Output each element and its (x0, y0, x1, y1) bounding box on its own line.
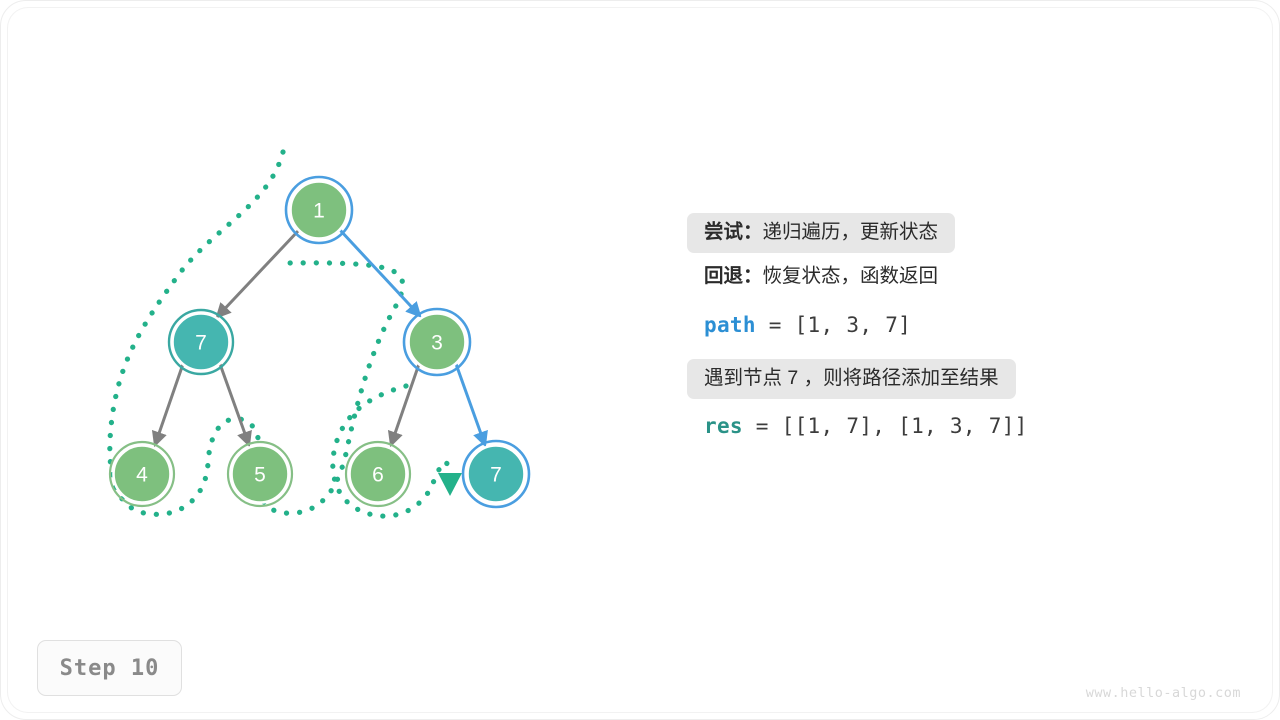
tree-node-1-label: 1 (313, 200, 325, 223)
path-code-line: path = [1, 3, 7] (687, 302, 928, 349)
tree-node-3-label: 3 (431, 332, 443, 355)
tree-node-4[interactable]: 4 (110, 442, 174, 506)
back-box: 回退：恢复状态，函数返回 (687, 257, 955, 297)
edge-7L-5 (220, 364, 249, 445)
tree-node-1[interactable]: 1 (286, 177, 352, 243)
note-text: 遇到节点 7 ，则将路径添加至结果 (704, 367, 999, 389)
res-code-line: res = [[1, 7], [1, 3, 7]] (687, 403, 1045, 450)
try-label: 尝试： (704, 221, 763, 243)
path-variable: path (704, 313, 756, 337)
watermark: www.hello-algo.com (1086, 685, 1241, 701)
note-row: 遇到节点 7 ，则将路径添加至结果 (687, 359, 1247, 399)
edge-3-7R (456, 364, 485, 445)
res-variable: res (704, 414, 743, 438)
tree-node-3[interactable]: 3 (404, 309, 470, 375)
edge-1-7L (217, 230, 299, 317)
back-label: 回退： (704, 265, 763, 287)
step-label: Step 10 (60, 656, 160, 681)
tree-node-5[interactable]: 5 (228, 442, 292, 506)
back-row: 回退：恢复状态，函数返回 (687, 257, 1247, 297)
edge-7L-4 (155, 364, 183, 445)
info-panel: 尝试：递归遍历，更新状态 回退：恢复状态，函数返回 path = [1, 3, … (687, 213, 1247, 454)
back-text: 恢复状态，函数返回 (763, 265, 939, 287)
tree-node-5-label: 5 (254, 464, 266, 487)
note-highlight-box: 遇到节点 7 ，则将路径添加至结果 (687, 359, 1016, 399)
try-row: 尝试：递归遍历，更新状态 (687, 213, 1247, 253)
try-text: 递归遍历，更新状态 (763, 221, 939, 243)
res-value: = [[1, 7], [1, 3, 7]] (743, 414, 1028, 438)
path-row: path = [1, 3, 7] (687, 302, 1247, 349)
tree-node-7-right-label: 7 (490, 464, 502, 487)
path-value: = [1, 3, 7] (756, 313, 911, 337)
tree-node-7-left-label: 7 (195, 332, 207, 355)
edge-3-6 (391, 364, 419, 445)
tree-node-7-right[interactable]: 7 (463, 441, 529, 507)
tree-node-7-left[interactable]: 7 (169, 310, 233, 374)
try-highlight-box: 尝试：递归遍历，更新状态 (687, 213, 955, 253)
edge-1-3 (340, 230, 420, 316)
res-row: res = [[1, 7], [1, 3, 7]] (687, 403, 1247, 450)
tree-node-6-label: 6 (372, 464, 384, 487)
traversal-arrow-marker (438, 473, 462, 496)
tree-node-4-label: 4 (136, 464, 148, 487)
diagram-frame: 1 7 3 4 5 6 (0, 0, 1280, 720)
tree-node-6[interactable]: 6 (346, 442, 410, 506)
step-badge: Step 10 (37, 640, 182, 696)
